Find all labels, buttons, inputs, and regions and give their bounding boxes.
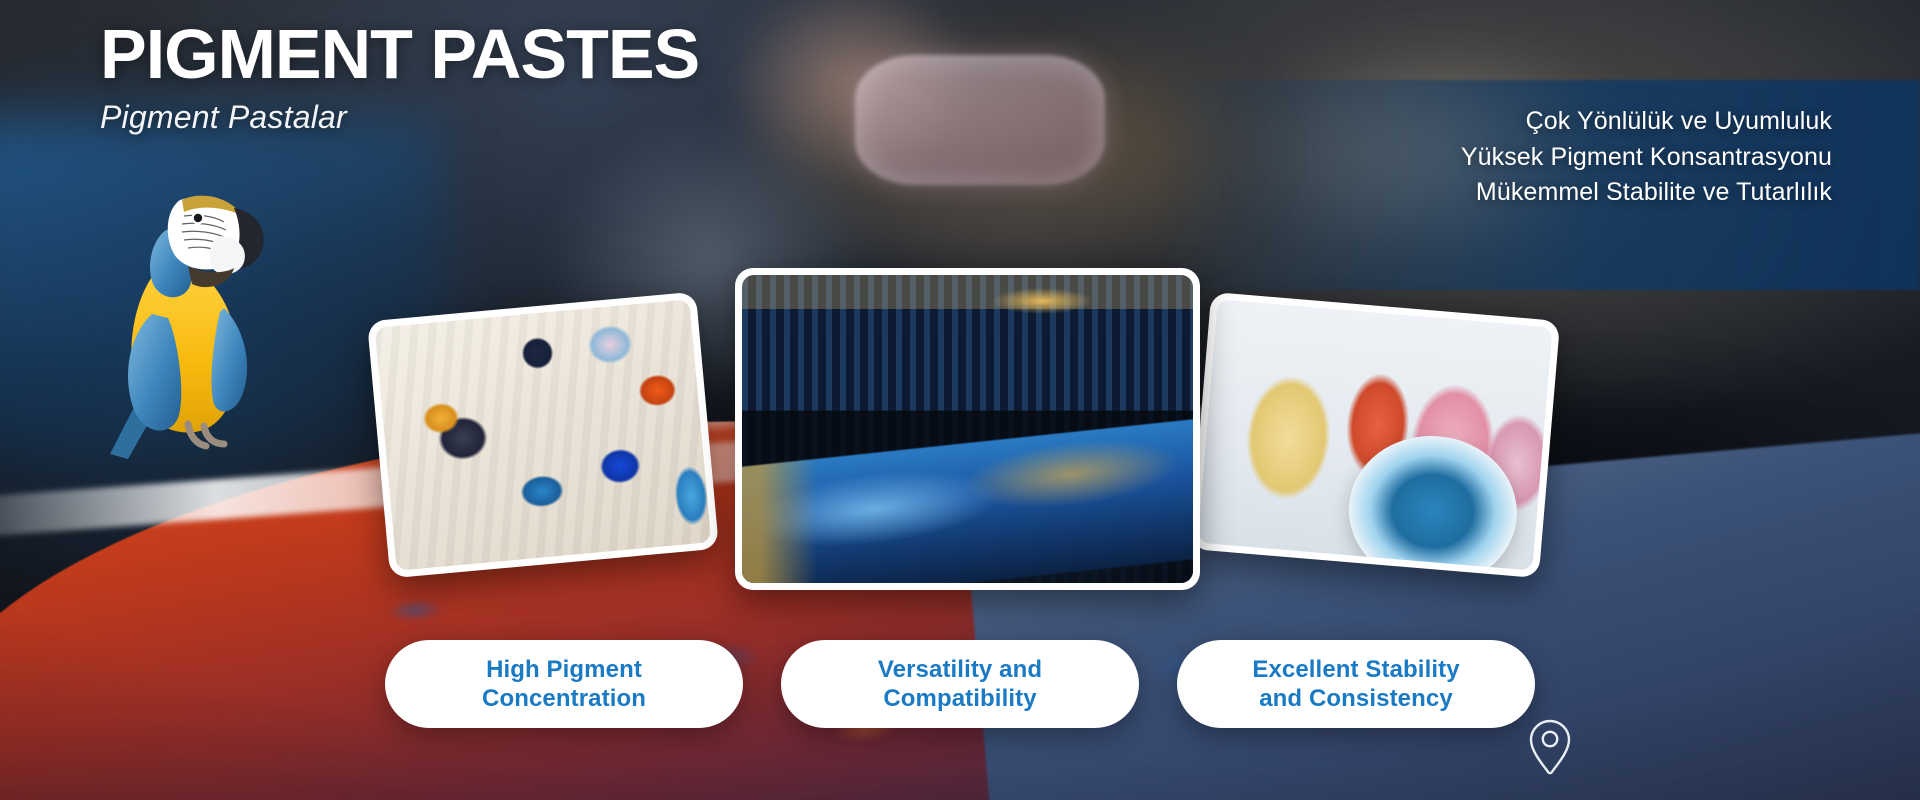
pill-label: Excellent Stability and Consistency <box>1252 655 1459 714</box>
pill-excellent-stability-and-consistency[interactable]: Excellent Stability and Consistency <box>1177 640 1535 728</box>
hero-banner: PIGMENT PASTES Pigment Pastalar Çok Yönl… <box>0 0 1920 800</box>
pill-label: Versatility and Compatibility <box>878 655 1042 714</box>
pill-label: High Pigment Concentration <box>482 655 646 714</box>
feature-item-2: Yüksek Pigment Konsantrasyonu <box>1461 140 1832 176</box>
feature-item-3: Mükemmel Stabilite ve Tutarlılık <box>1461 175 1832 211</box>
location-pin-icon[interactable] <box>1528 718 1572 776</box>
page-title: PIGMENT PASTES <box>100 18 699 91</box>
pigment-jars-photo <box>1197 299 1552 570</box>
pill-versatility-and-compatibility[interactable]: Versatility and Compatibility <box>781 640 1139 728</box>
resin-table-photo <box>742 275 1193 583</box>
gallery-card-pigment-bowls[interactable] <box>367 292 719 579</box>
feature-item-1: Çok Yönlülük ve Uyumluluk <box>1461 104 1832 140</box>
gallery-card-pigment-jars[interactable] <box>1190 292 1560 578</box>
gallery-card-resin-table[interactable] <box>735 268 1200 590</box>
pill-high-pigment-concentration[interactable]: High Pigment Concentration <box>385 640 743 728</box>
feature-list: Çok Yönlülük ve Uyumluluk Yüksek Pigment… <box>1461 104 1832 211</box>
headline-group: PIGMENT PASTES Pigment Pastalar <box>100 18 699 136</box>
pigment-bowls-photo <box>375 299 712 571</box>
page-subtitle: Pigment Pastalar <box>100 99 699 136</box>
feature-pill-row: High Pigment Concentration Versatility a… <box>0 640 1920 728</box>
